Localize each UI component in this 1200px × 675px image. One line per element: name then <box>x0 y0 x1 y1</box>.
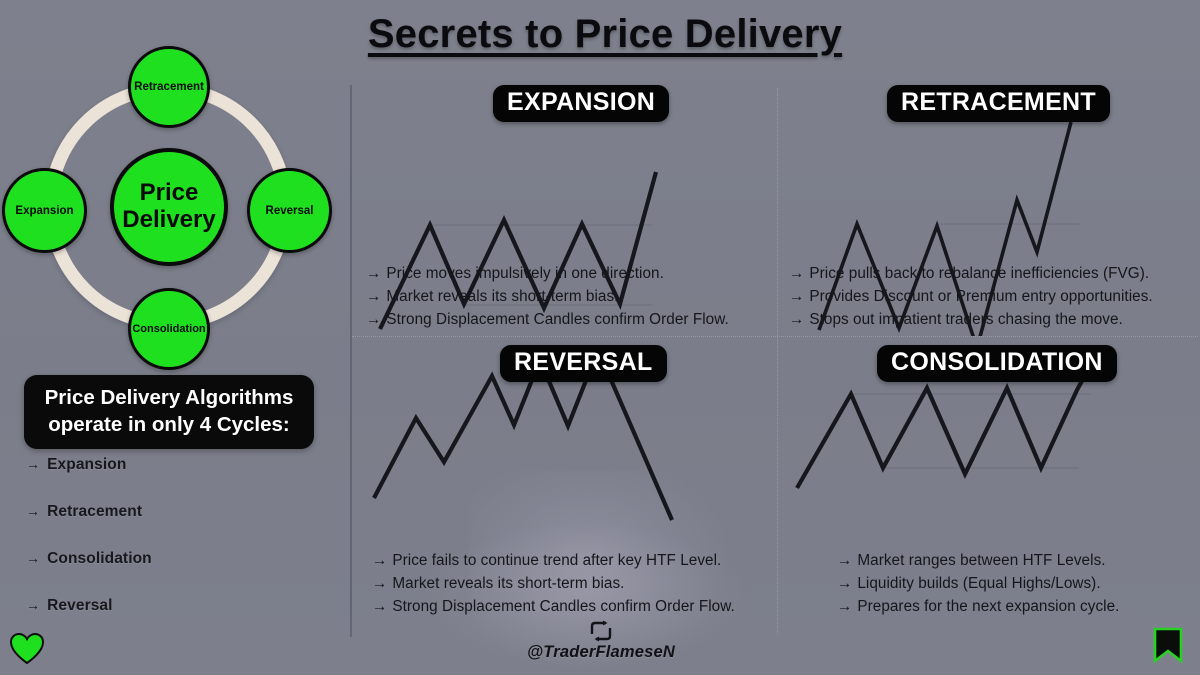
list-item: →Consolidation <box>26 550 326 568</box>
quadrant-expansion: EXPANSION →Price moves impulsively in on… <box>352 80 776 336</box>
list-item: →Reversal <box>26 597 326 615</box>
bullet-item: →Liquidity builds (Equal Highs/Lows). <box>837 573 1200 596</box>
arrow-icon: → <box>26 503 40 519</box>
cycle-node-label: Reversal <box>266 205 314 217</box>
price-delivery-cycle-diagram: Retracement Expansion Reversal Consolida… <box>0 20 345 360</box>
cycle-label: Expansion <box>47 456 126 473</box>
bullet-text: Prepares for the next expansion cycle. <box>857 598 1119 615</box>
bullet-item: →Strong Displacement Candles confirm Ord… <box>366 309 790 332</box>
cycle-node-label: Expansion <box>15 205 73 217</box>
heart-icon <box>10 633 44 665</box>
bullets-reversal: →Price fails to continue trend after key… <box>372 550 796 619</box>
list-item: →Retracement <box>26 503 326 521</box>
callout-line2: operate in only 4 Cycles: <box>38 411 300 438</box>
quadrant-reversal: REVERSAL →Price fails to continue trend … <box>352 340 776 620</box>
center-label-line2: Delivery <box>122 207 215 234</box>
arrow-icon: → <box>366 265 381 282</box>
bullet-text: Price pulls back to rebalance inefficien… <box>809 265 1149 282</box>
arrow-icon: → <box>372 552 387 569</box>
bullets-consolidation: →Market ranges between HTF Levels. →Liqu… <box>837 550 1200 619</box>
footer: @TraderFlameseN <box>470 620 732 662</box>
badge-consolidation: CONSOLIDATION <box>877 345 1117 382</box>
infographic-canvas: Secrets to Price Delivery Retracement Ex… <box>0 0 1200 675</box>
repost-icon <box>588 620 614 642</box>
bullet-item: →Market ranges between HTF Levels. <box>837 550 1200 573</box>
arrow-icon: → <box>372 575 387 592</box>
list-item: →Expansion <box>26 456 326 474</box>
arrow-icon: → <box>789 288 804 305</box>
bullet-text: Market ranges between HTF Levels. <box>857 552 1105 569</box>
cycles-callout: Price Delivery Algorithms operate in onl… <box>24 375 314 449</box>
bullet-text: Market reveals its short-term bias. <box>392 575 624 592</box>
arrow-icon: → <box>26 550 40 566</box>
badge-expansion: EXPANSION <box>493 85 669 122</box>
cycle-node-reversal[interactable]: Reversal <box>247 168 332 253</box>
bullet-text: Liquidity builds (Equal Highs/Lows). <box>857 575 1100 592</box>
quadrant-retracement: RETRACEMENT →Price pulls back to rebalan… <box>779 80 1200 336</box>
arrow-icon: → <box>366 311 381 328</box>
cycle-node-consolidation[interactable]: Consolidation <box>128 288 210 370</box>
arrow-icon: → <box>837 598 852 615</box>
cycle-node-center[interactable]: Price Delivery <box>110 148 228 266</box>
bullet-text: Strong Displacement Candles confirm Orde… <box>386 311 728 328</box>
bullet-item: →Price moves impulsively in one directio… <box>366 263 790 286</box>
arrow-icon: → <box>837 575 852 592</box>
cycles-list: →Expansion →Retracement →Consolidation →… <box>26 456 326 644</box>
bullet-item: →Provides Discount or Premium entry oppo… <box>789 286 1200 309</box>
arrow-icon: → <box>837 552 852 569</box>
bullet-text: Strong Displacement Candles confirm Orde… <box>392 598 734 615</box>
bullet-item: →Price fails to continue trend after key… <box>372 550 796 573</box>
bullet-text: Provides Discount or Premium entry oppor… <box>809 288 1152 305</box>
center-label-line1: Price <box>122 180 215 207</box>
bookmark-icon[interactable] <box>1152 627 1184 663</box>
bullet-item: →Market reveals its short-term bias. <box>372 573 796 596</box>
bullet-text: Stops out impatient traders chasing the … <box>809 311 1122 328</box>
bullets-retracement: →Price pulls back to rebalance inefficie… <box>789 263 1200 332</box>
quadrant-consolidation: CONSOLIDATION →Market ranges between HTF… <box>779 340 1200 620</box>
bullet-text: Price moves impulsively in one direction… <box>386 265 664 282</box>
bullet-item: →Market reveals its short-term bias. <box>366 286 790 309</box>
cycle-node-retracement[interactable]: Retracement <box>128 46 210 128</box>
arrow-icon: → <box>372 598 387 615</box>
bullet-item: →Price pulls back to rebalance inefficie… <box>789 263 1200 286</box>
arrow-icon: → <box>789 311 804 328</box>
callout-line1: Price Delivery Algorithms <box>38 384 300 411</box>
cycle-label: Retracement <box>47 503 142 520</box>
cycle-node-label: Consolidation <box>132 323 205 335</box>
cycle-node-expansion[interactable]: Expansion <box>2 168 87 253</box>
bullet-item: →Prepares for the next expansion cycle. <box>837 596 1200 619</box>
arrow-icon: → <box>789 265 804 282</box>
badge-retracement: RETRACEMENT <box>887 85 1110 122</box>
bullet-item: →Strong Displacement Candles confirm Ord… <box>372 596 796 619</box>
cycle-label: Reversal <box>47 597 112 614</box>
arrow-icon: → <box>26 597 40 613</box>
quadrant-horizontal-divider <box>352 336 1198 337</box>
cycle-label: Consolidation <box>47 550 152 567</box>
bullet-text: Market reveals its short-term bias. <box>386 288 618 305</box>
bullet-item: →Stops out impatient traders chasing the… <box>789 309 1200 332</box>
page-title: Secrets to Price Delivery <box>345 12 865 57</box>
bullets-expansion: →Price moves impulsively in one directio… <box>366 263 790 332</box>
author-handle[interactable]: @TraderFlameseN <box>470 643 732 662</box>
arrow-icon: → <box>366 288 381 305</box>
arrow-icon: → <box>26 456 40 472</box>
bullet-text: Price fails to continue trend after key … <box>392 552 721 569</box>
cycle-node-label: Retracement <box>134 81 204 93</box>
badge-reversal: REVERSAL <box>500 345 667 382</box>
